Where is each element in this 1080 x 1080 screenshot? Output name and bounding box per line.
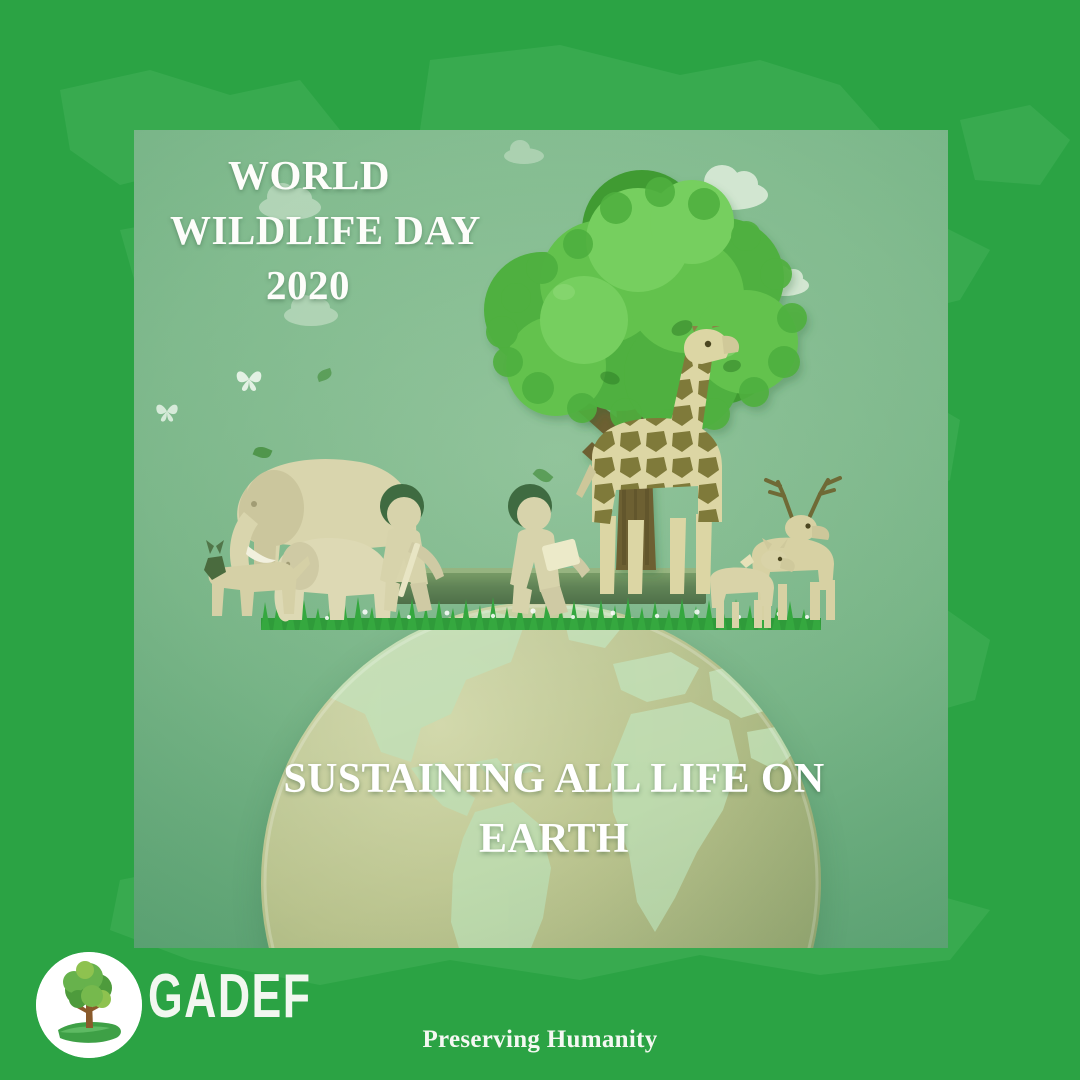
deer-fawn-illustration xyxy=(696,534,806,630)
brand-name: GADEF xyxy=(148,966,311,1028)
artwork-panel: WORLD WILDLIFE DAY 2020 SUSTAINING ALL L… xyxy=(134,130,948,948)
poster-tagline: SUSTAINING ALL LIFE ON EARTH xyxy=(194,750,914,869)
headline-line-2: WILDLIFE DAY xyxy=(158,203,598,258)
butterfly-icon xyxy=(154,400,180,422)
poster-canvas: WORLD WILDLIFE DAY 2020 SUSTAINING ALL L… xyxy=(0,0,1080,1080)
tagline-line-1: SUSTAINING ALL LIFE ON xyxy=(283,756,824,802)
child-left-illustration xyxy=(352,480,462,620)
butterfly-icon xyxy=(234,366,264,392)
page-title: WORLD WILDLIFE DAY 2020 xyxy=(158,148,598,313)
headline-line-1: WORLD xyxy=(158,148,598,203)
headline-line-3: 2020 xyxy=(158,258,598,313)
tagline-line-2: EARTH xyxy=(479,816,629,862)
brand-tagline: Preserving Humanity xyxy=(0,1026,1080,1054)
antelope-illustration xyxy=(192,536,312,628)
